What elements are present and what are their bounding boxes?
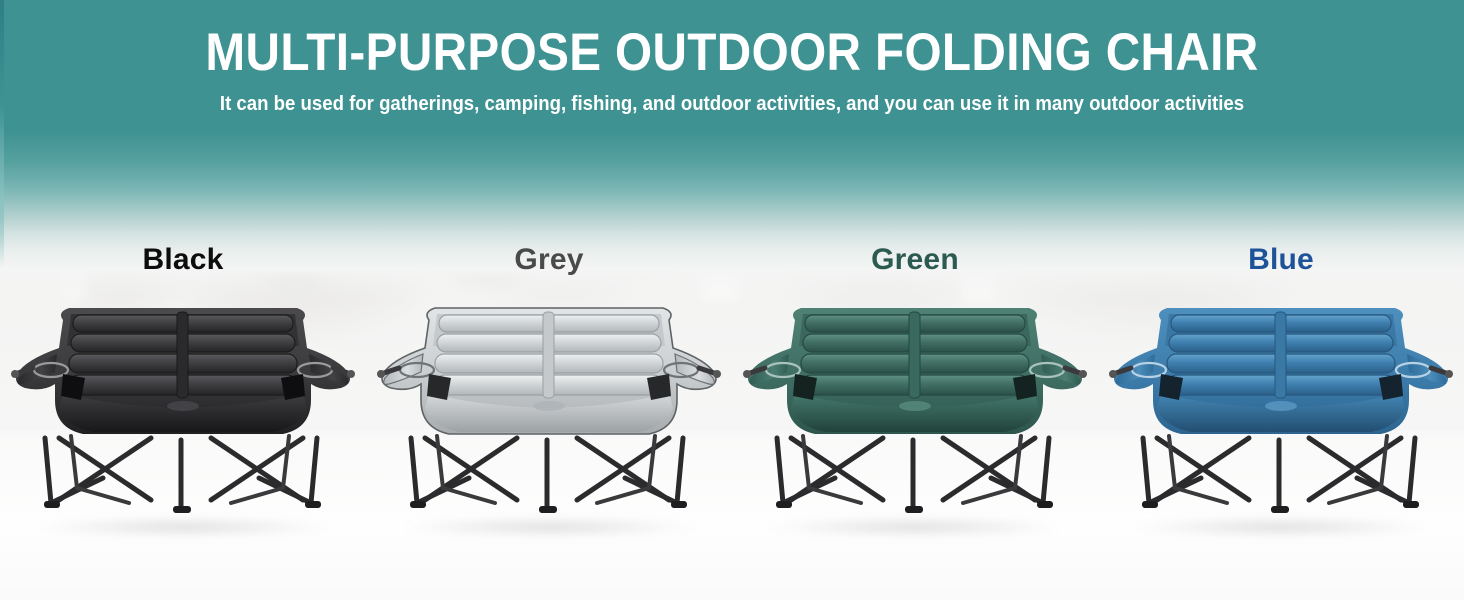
- product-variant-blue[interactable]: Blue: [1098, 0, 1464, 600]
- variant-label-black: Black: [0, 243, 366, 277]
- product-variant-list: Black: [0, 0, 1464, 600]
- product-variant-grey[interactable]: Grey: [366, 0, 732, 600]
- chair-image-grey: [377, 288, 721, 536]
- chair-image-green: [743, 288, 1087, 536]
- product-banner: MULTI-PURPOSE OUTDOOR FOLDING CHAIR It c…: [0, 0, 1464, 600]
- product-variant-green[interactable]: Green: [732, 0, 1098, 600]
- chair-image-blue: [1109, 288, 1453, 536]
- variant-label-blue: Blue: [1098, 243, 1464, 277]
- chair-image-black: [11, 288, 355, 536]
- variant-label-grey: Grey: [366, 243, 732, 277]
- variant-label-green: Green: [732, 243, 1098, 277]
- product-variant-black[interactable]: Black: [0, 0, 366, 600]
